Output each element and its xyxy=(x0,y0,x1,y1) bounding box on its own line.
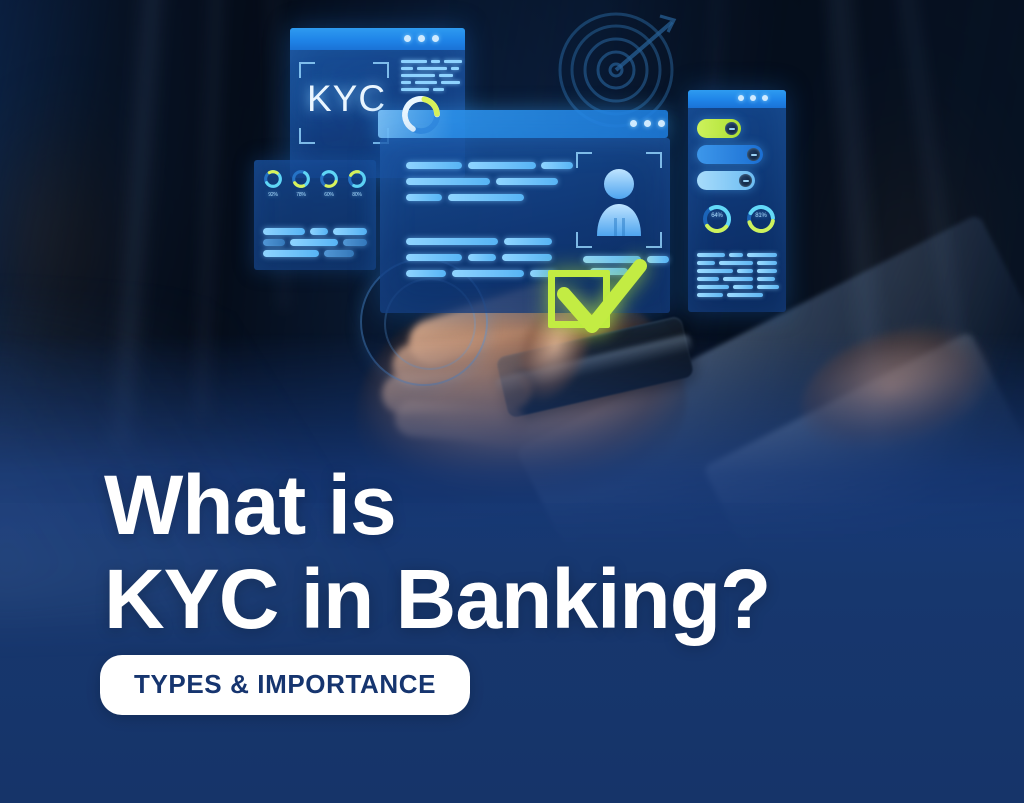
window-dot xyxy=(432,35,439,42)
subtitle-badge: TYPES & IMPORTANCE xyxy=(100,655,470,715)
window-dot xyxy=(658,120,665,127)
kyc-banner: KYC xyxy=(0,0,1024,803)
settings-gauge: 81% xyxy=(744,202,778,236)
settings-window-dots xyxy=(738,95,768,101)
settings-window-titlebar xyxy=(688,90,786,108)
toggle-knob[interactable] xyxy=(747,148,760,161)
toggle-light-blue[interactable] xyxy=(697,171,755,190)
stats-gauge-label: 92% xyxy=(262,192,284,198)
check-mark-icon xyxy=(548,258,648,338)
window-dot xyxy=(738,95,744,101)
stats-gauge-label: 80% xyxy=(346,192,368,198)
stats-gauge: 92% xyxy=(262,168,284,190)
kyc-progress-donut xyxy=(398,92,444,138)
kyc-label: KYC xyxy=(307,78,386,120)
stats-gauge-label: 60% xyxy=(318,192,340,198)
stats-gauge: 78% xyxy=(290,168,312,190)
identity-scan-frame xyxy=(576,152,662,248)
settings-gauge-label: 81% xyxy=(744,213,778,219)
main-window-dots xyxy=(630,120,665,127)
settings-gauge-label: 64% xyxy=(700,213,734,219)
stats-gauge-label: 78% xyxy=(290,192,312,198)
page-title: What is KYC in Banking? xyxy=(104,464,924,641)
toggle-knob[interactable] xyxy=(725,122,738,135)
toggle-knob[interactable] xyxy=(739,174,752,187)
window-dot xyxy=(630,120,637,127)
toggle-lime[interactable] xyxy=(697,119,741,138)
settings-gauge: 64% xyxy=(700,202,734,236)
stats-gauge-row: 92% 78% 60% 80% xyxy=(262,168,368,190)
window-dot xyxy=(762,95,768,101)
settings-gauge-row: 64% 81% xyxy=(700,202,778,236)
window-dot xyxy=(750,95,756,101)
headline-line-2: KYC in Banking? xyxy=(104,558,924,640)
stats-gauge: 60% xyxy=(318,168,340,190)
person-avatar-icon xyxy=(592,166,646,236)
window-dot xyxy=(404,35,411,42)
toggle-blue[interactable] xyxy=(697,145,763,164)
window-dot xyxy=(644,120,651,127)
headline-line-1: What is xyxy=(104,458,396,552)
stats-gauge: 80% xyxy=(346,168,368,190)
kyc-window-dots xyxy=(404,35,439,42)
subtitle-badge-label: TYPES & IMPORTANCE xyxy=(134,669,436,699)
window-dot xyxy=(418,35,425,42)
